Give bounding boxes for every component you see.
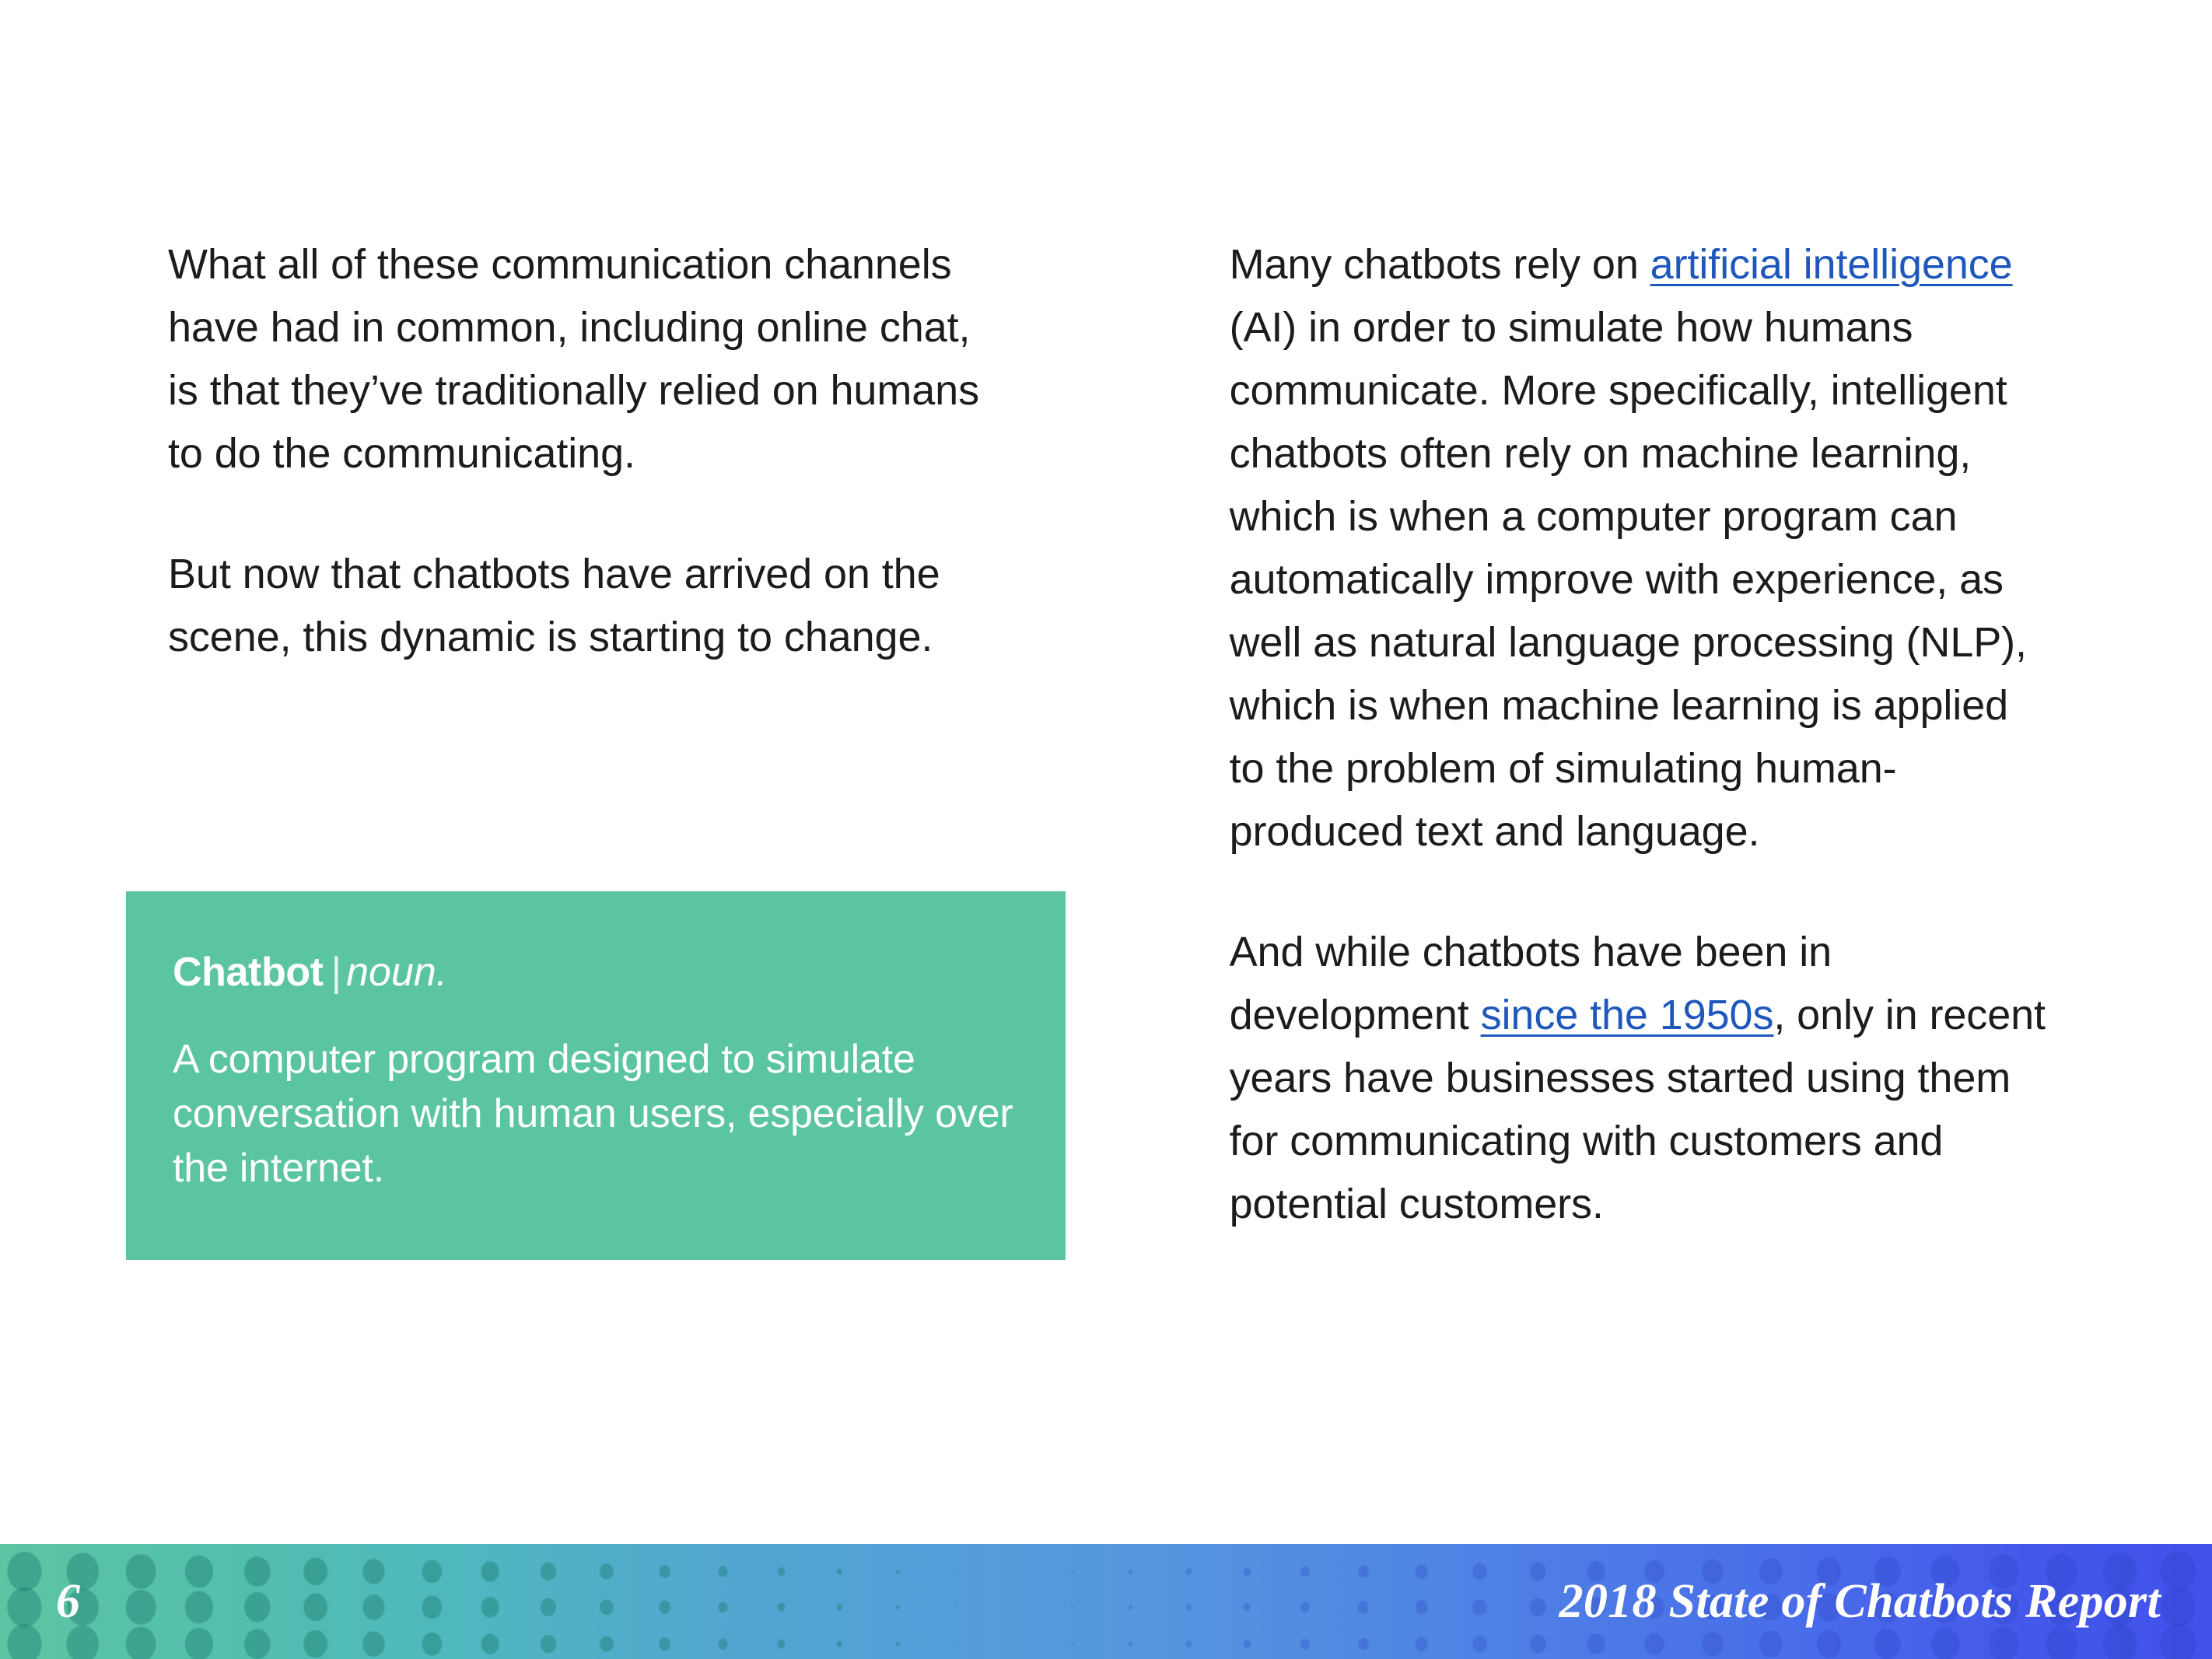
callout-part-of-speech: noun. — [346, 950, 447, 995]
footer-report-title: 2018 State of Chatbots Report — [1559, 1544, 2161, 1659]
page-canvas: What all of these communication channels… — [0, 0, 2212, 1544]
right-column: Many chatbots rely on artificial intelli… — [1230, 233, 2050, 1236]
page-footer: 6 2018 State of Chatbots Report — [0, 1544, 2212, 1659]
footer-page-number: 6 — [56, 1544, 81, 1659]
callout-definition: A computer program designed to simulate … — [173, 1032, 1019, 1195]
chatbot-definition-callout: Chatbot|noun. A computer program designe… — [126, 891, 1066, 1260]
left-paragraph-2: But now that chatbots have arrived on th… — [168, 543, 985, 669]
right-paragraph-1-after-link: (AI) in order to simulate how humans com… — [1230, 304, 2027, 855]
callout-term: Chatbot — [173, 950, 324, 995]
callout-term-line: Chatbot|noun. — [173, 948, 1019, 996]
left-paragraph-1: What all of these communication channels… — [168, 233, 985, 485]
right-paragraph-1: Many chatbots rely on artificial intelli… — [1230, 233, 2050, 863]
right-paragraph-1-before-link: Many chatbots rely on — [1230, 241, 1650, 288]
callout-separator: | — [324, 950, 347, 995]
since-the-1950s-link[interactable]: since the 1950s — [1481, 992, 1774, 1038]
right-paragraph-2: And while chatbots have been in developm… — [1230, 921, 2050, 1236]
artificial-intelligence-link[interactable]: artificial intelligence — [1650, 241, 2013, 288]
